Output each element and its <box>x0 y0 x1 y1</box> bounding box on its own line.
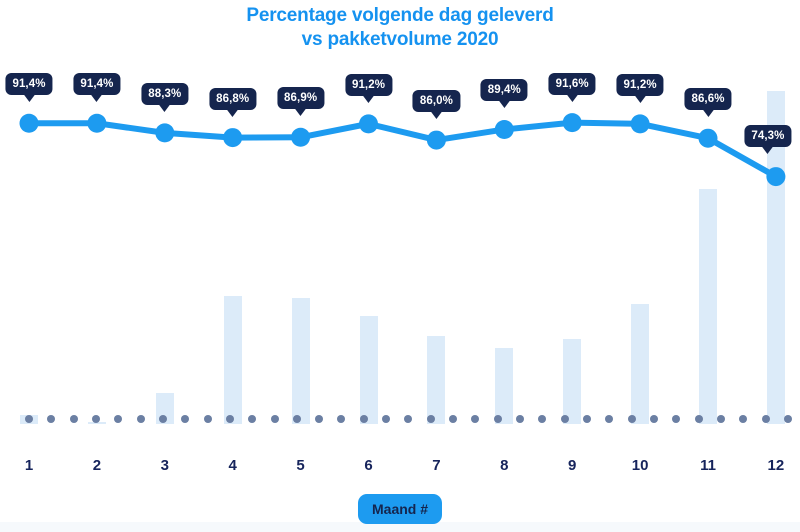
x-axis-label: 10 <box>632 457 649 474</box>
line-point <box>766 167 785 186</box>
line-point <box>291 128 310 147</box>
x-axis-label: 11 <box>700 457 716 474</box>
x-axis-title-badge: Maand # <box>358 494 442 524</box>
data-label-tooltip: 91,2% <box>345 74 392 96</box>
line-point <box>87 114 106 133</box>
line-point <box>631 114 650 133</box>
data-label-tooltip: 91,4% <box>5 73 52 95</box>
line-point <box>155 123 174 142</box>
x-axis-label: 2 <box>93 457 101 474</box>
data-label-tooltip: 91,2% <box>617 74 664 96</box>
data-label-tooltip: 74,3% <box>744 125 791 147</box>
line-path <box>29 123 776 177</box>
data-label-tooltip: 86,8% <box>209 88 256 110</box>
data-label-tooltip: 86,6% <box>684 88 731 110</box>
line-point <box>563 113 582 132</box>
line-point <box>495 120 514 139</box>
data-label-tooltip: 91,4% <box>73 73 120 95</box>
data-label-tooltip: 86,0% <box>413 90 460 112</box>
line-point <box>223 128 242 147</box>
line-point <box>427 131 446 150</box>
data-label-tooltip: 88,3% <box>141 83 188 105</box>
x-axis-label: 5 <box>296 457 304 474</box>
data-label-tooltip: 86,9% <box>277 87 324 109</box>
x-axis-label: 9 <box>568 457 576 474</box>
plot-area: 91,4%91,4%88,3%86,8%86,9%91,2%86,0%89,4%… <box>0 0 800 532</box>
line-point <box>20 114 39 133</box>
x-axis-label: 3 <box>161 457 169 474</box>
x-axis-label: 8 <box>500 457 508 474</box>
line-point <box>359 114 378 133</box>
x-axis-label: 4 <box>229 457 237 474</box>
line-point <box>699 129 718 148</box>
chart-container: Percentage volgende dag geleverd vs pakk… <box>0 0 800 532</box>
data-label-tooltip: 89,4% <box>481 79 528 101</box>
x-axis-label: 1 <box>25 457 33 474</box>
x-axis-label: 7 <box>432 457 440 474</box>
x-axis-label: 6 <box>364 457 372 474</box>
data-label-tooltip: 91,6% <box>549 73 596 95</box>
x-axis-label: 12 <box>768 457 785 474</box>
